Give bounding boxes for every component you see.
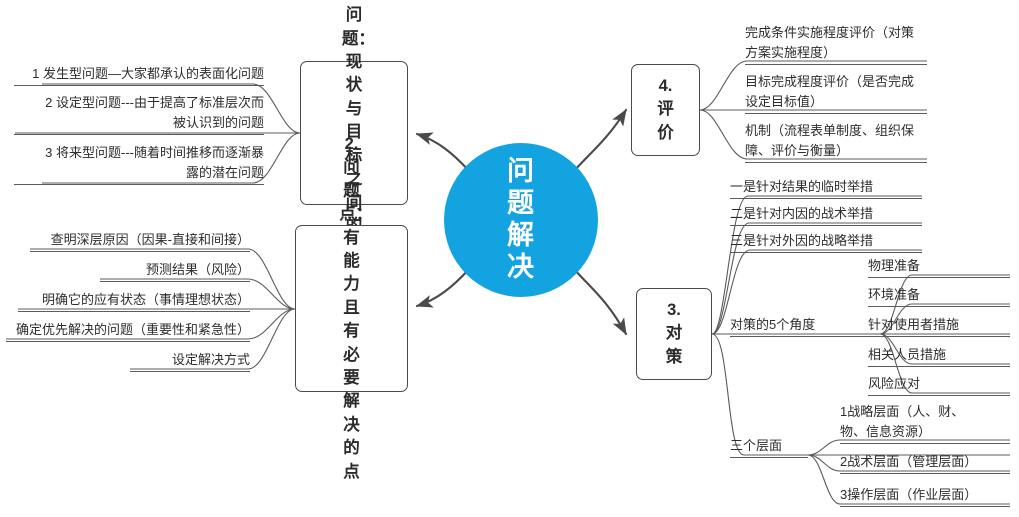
leaf-b4-1[interactable]: 完成条件实施程度评价（对策 方案实施程度） [745, 23, 927, 65]
leaf-b2-4[interactable]: 确定优先解决的问题（重要性和紧急性） [6, 320, 250, 342]
leaf-b2-2[interactable]: 预测结果（风险） [100, 260, 250, 282]
center-node[interactable]: 问题解决 [444, 143, 598, 297]
leaf-b3-2[interactable]: 二是针对内因的战术举措 [730, 204, 922, 226]
main-box-evaluation-label: 4.评价 [647, 75, 683, 145]
leaf-sa-2[interactable]: 环境准备 [868, 285, 1010, 307]
leaf-sa-5[interactable]: 风险应对 [868, 374, 1010, 396]
leaf-sa-3[interactable]: 针对使用者措施 [868, 315, 1010, 337]
leaf-sb-3[interactable]: 3操作层面（作业层面） [840, 485, 1010, 507]
leaf-b2-3[interactable]: 明确它的应有状态（事情理想状态） [18, 290, 250, 312]
leaf-b4-2[interactable]: 目标完成程度评价（是否完成 设定目标值） [745, 72, 927, 114]
leaf-b3-4[interactable]: 对策的5个角度 [730, 315, 880, 337]
leaf-sb-1[interactable]: 1战略层面（人、财、 物、信息资源） [840, 402, 1010, 444]
main-box-countermeasure[interactable]: 3.对策 [636, 288, 712, 380]
leaf-b3-5[interactable]: 三个层面 [730, 436, 808, 458]
main-box-evaluation[interactable]: 4.评价 [631, 64, 700, 156]
leaf-sa-4[interactable]: 相关人员措施 [868, 345, 1010, 367]
main-box-problem-point[interactable]: 2.问题点：有能力且有必要解决的点 [295, 225, 408, 392]
leaf-b1-1[interactable]: 1 发生型问题—大家都承认的表面化问题 [14, 64, 264, 86]
center-node-label: 问题解决 [505, 156, 537, 283]
leaf-sa-1[interactable]: 物理准备 [868, 256, 1010, 278]
leaf-b1-3[interactable]: 3 将来型问题---随着时间推移而逐渐暴 露的潜在问题 [14, 143, 264, 185]
leaf-b3-1[interactable]: 一是针对结果的临时举措 [730, 177, 922, 199]
arrow-center-to-box1 [417, 134, 470, 172]
leaf-b2-5[interactable]: 设定解决方式 [130, 350, 250, 372]
leaf-b1-2[interactable]: 2 设定型问题---由于提高了标准层次而 被认识到的问题 [14, 93, 264, 135]
leaf-b2-1[interactable]: 查明深层原因（因果-直接和间接） [30, 230, 250, 252]
leaf-b3-3[interactable]: 三是针对外因的战略举措 [730, 231, 922, 253]
arrow-center-to-box4 [573, 110, 626, 172]
main-box-problem-point-label: 2.问题点：有能力且有必要解决的点 [333, 133, 369, 484]
arrow-center-to-box2 [417, 268, 470, 306]
mindmap-canvas: 问题解决 1.问题：现状与目标之间的差异 2.问题点：有能力且有必要解决的点 4… [0, 0, 1019, 517]
leaf-b4-3[interactable]: 机制（流程表单制度、组织保 障、评价与衡量） [745, 121, 927, 163]
arrow-center-to-box3 [573, 268, 626, 334]
main-box-countermeasure-label: 3.对策 [656, 299, 692, 369]
leaf-sb-2[interactable]: 2战术层面（管理层面） [840, 452, 1010, 474]
